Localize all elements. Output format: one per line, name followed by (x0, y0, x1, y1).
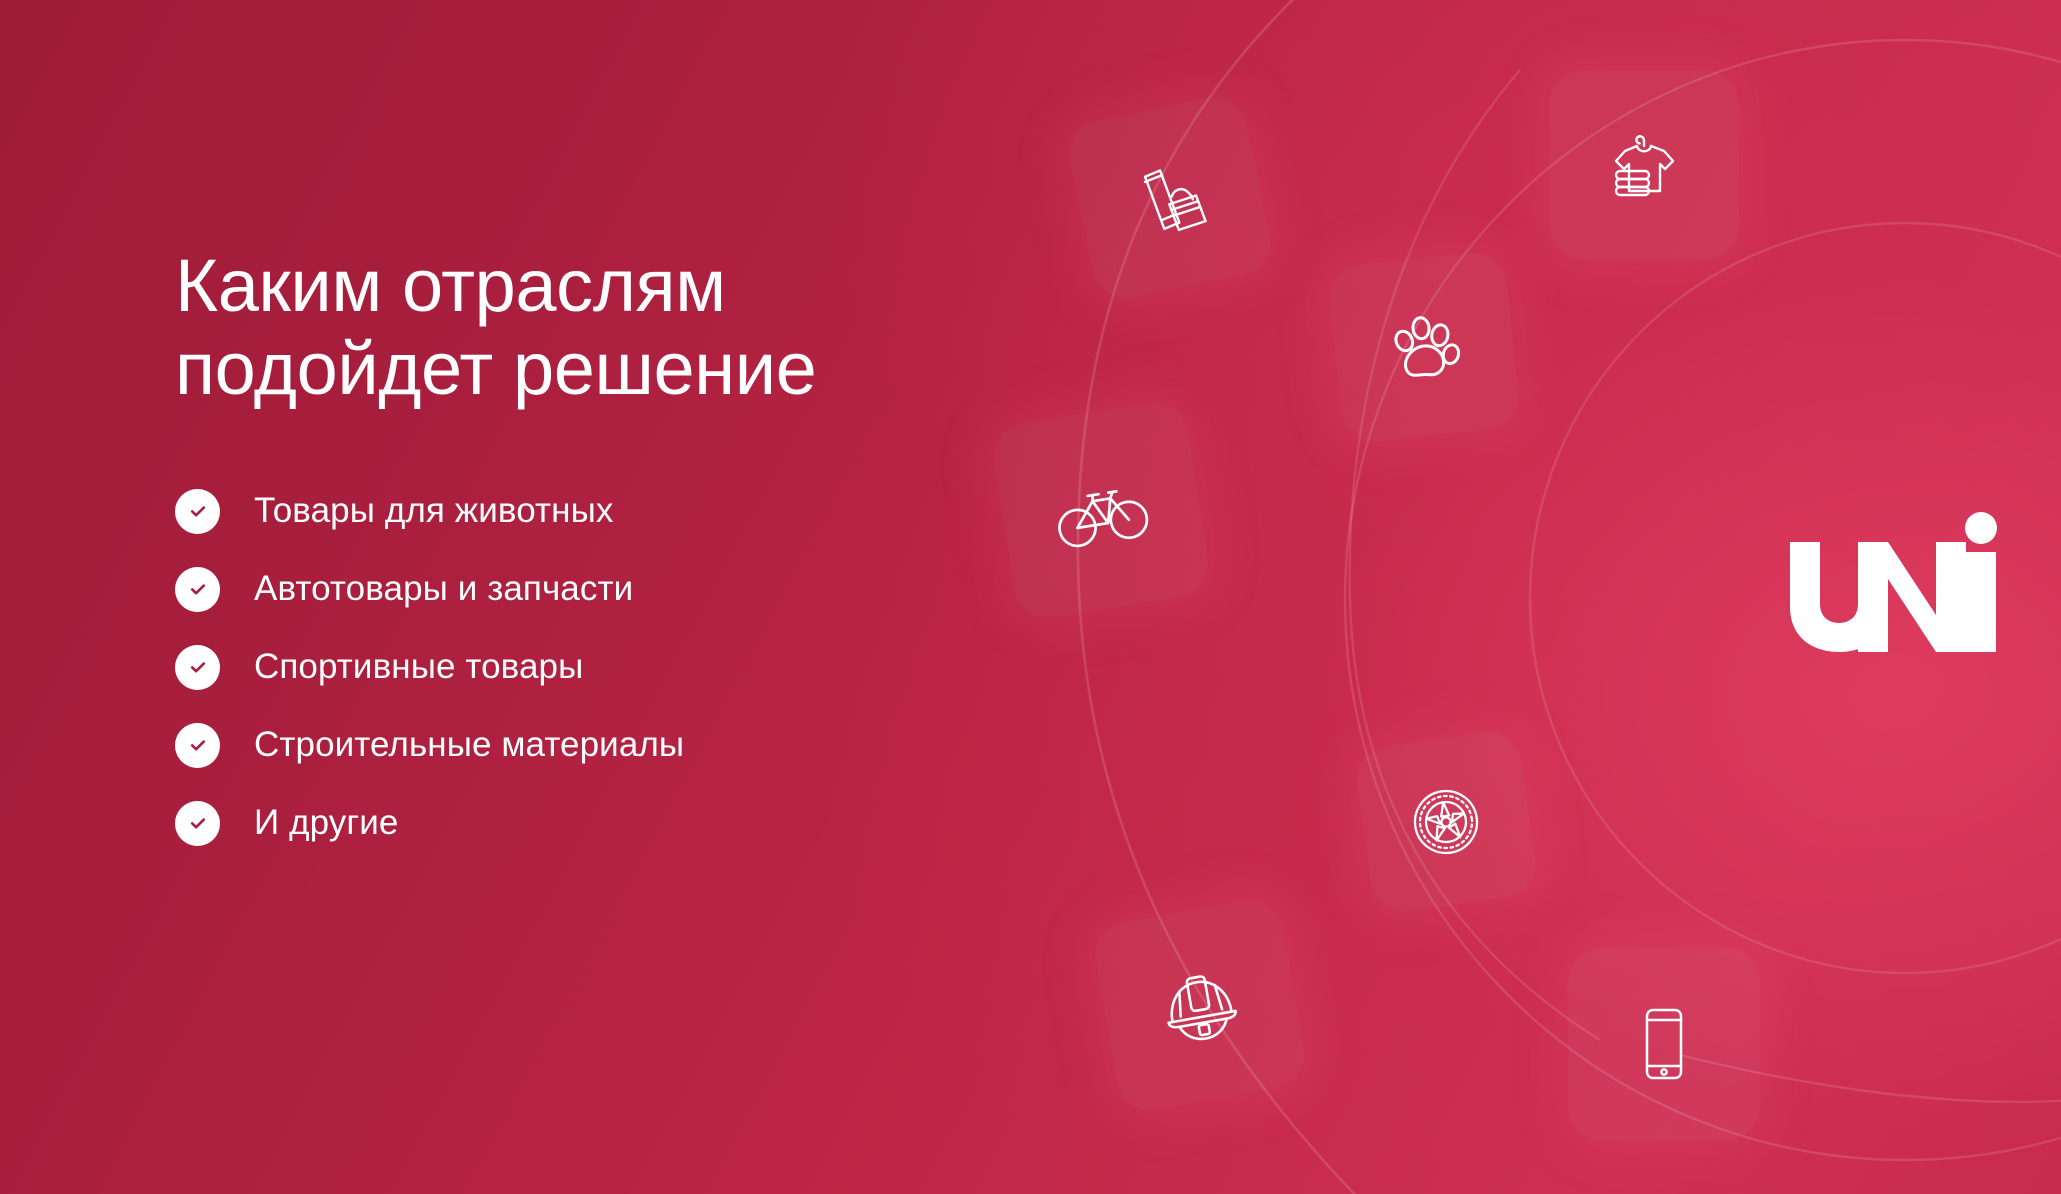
cosmetics-tube-jar-icon (1113, 141, 1227, 255)
industry-tile-pets (1326, 249, 1522, 445)
check-circle-icon (175, 801, 220, 846)
check-circle-icon (175, 645, 220, 690)
slide-root: Каким отраслям подойдет решение Товары д… (0, 0, 2061, 1194)
list-item-label: И другие (254, 803, 398, 843)
check-circle-icon (175, 489, 220, 534)
industry-tile-tires (1352, 728, 1539, 915)
list-item-label: Спортивные товары (254, 647, 583, 687)
content-column: Каким отраслям подойдет решение Товары д… (175, 245, 995, 846)
list-item: И другие (175, 801, 995, 846)
smartphone-icon (1616, 996, 1712, 1092)
tshirt-hanger-icon (1594, 115, 1694, 215)
paw-print-icon (1373, 296, 1474, 397)
uni-logo (1790, 512, 2000, 660)
industry-tile-helmet (1090, 895, 1310, 1115)
industry-tile-cosmetics (1063, 91, 1276, 304)
check-circle-icon (175, 723, 220, 768)
check-circle-icon (175, 567, 220, 612)
list-item: Строительные материалы (175, 723, 995, 768)
industry-tile-bicycle (989, 398, 1213, 622)
list-item: Товары для животных (175, 489, 995, 534)
list-item-label: Автотовары и запчасти (254, 569, 633, 609)
industry-list: Товары для животных Автотовары и запчаст… (175, 489, 995, 846)
industry-tile-phone (1568, 948, 1760, 1140)
bicycle-icon (1042, 451, 1161, 570)
uni-logo-icon (1790, 512, 2000, 660)
list-item: Спортивные товары (175, 645, 995, 690)
page-title: Каким отраслям подойдет решение (175, 245, 995, 411)
industry-tile-apparel (1549, 70, 1739, 260)
list-item-label: Строительные материалы (254, 725, 684, 765)
tire-wheel-icon (1396, 772, 1495, 871)
list-item: Автотовары и запчасти (175, 567, 995, 612)
hard-hat-icon (1142, 947, 1258, 1063)
list-item-label: Товары для животных (254, 491, 613, 531)
